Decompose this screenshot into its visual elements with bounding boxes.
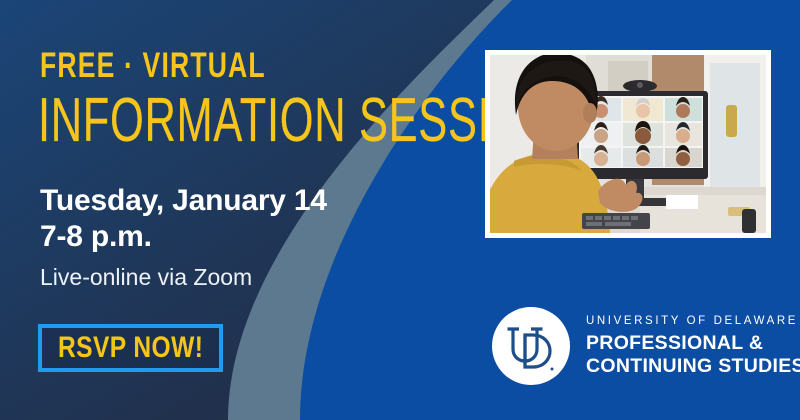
- text-column: FREE · VIRTUAL INFORMATION SESSION Tuesd…: [38, 0, 468, 420]
- logo-unit-line-1: PROFESSIONAL &: [586, 332, 800, 355]
- ud-logo-lockup: UNIVERSITY OF DELAWARE PROFESSIONAL & CO…: [492, 305, 760, 387]
- eyebrow-text: FREE · VIRTUAL: [40, 48, 266, 84]
- event-date: Tuesday, January 14: [40, 182, 327, 220]
- event-photo: [490, 55, 766, 233]
- rsvp-button[interactable]: RSVP NOW!: [38, 324, 223, 372]
- logo-unit-line-2: CONTINUING STUDIES: [586, 355, 800, 378]
- event-platform: Live-online via Zoom: [40, 262, 252, 292]
- ud-monogram-icon: [492, 307, 570, 385]
- event-time: 7-8 p.m.: [40, 218, 152, 256]
- event-photo-frame: [485, 50, 771, 238]
- video-call-illustration: [490, 55, 766, 233]
- ud-monogram-svg: [501, 316, 561, 376]
- logo-university-name: UNIVERSITY OF DELAWARE: [586, 314, 800, 329]
- event-promo-banner: FREE · VIRTUAL INFORMATION SESSION Tuesd…: [0, 0, 800, 420]
- page-title: INFORMATION SESSION: [38, 90, 557, 152]
- ud-logo-text: UNIVERSITY OF DELAWARE PROFESSIONAL & CO…: [586, 314, 800, 378]
- rsvp-button-label: RSVP NOW!: [58, 333, 203, 363]
